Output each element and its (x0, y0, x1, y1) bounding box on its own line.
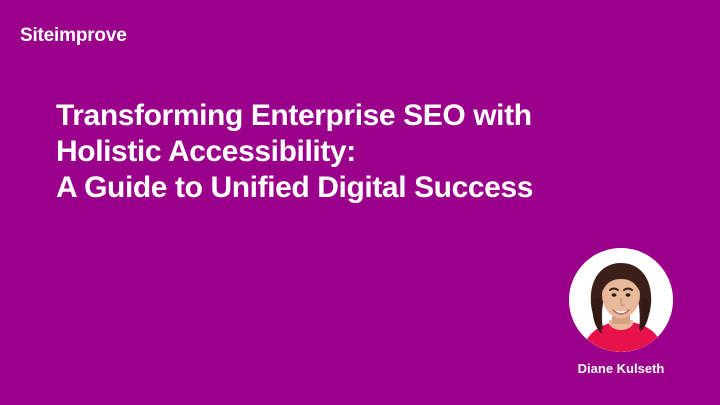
avatar (569, 248, 673, 352)
speaker-block: Diane Kulseth (520, 248, 690, 375)
title-line-3: A Guide to Unified Digital Success (56, 170, 656, 206)
title-line-1: Transforming Enterprise SEO with (56, 98, 656, 134)
speaker-portrait-photo-icon (569, 248, 673, 352)
siteimprove-logo: Siteimprove (20, 26, 127, 45)
title-line-2: Holistic Accessibility: (56, 134, 656, 170)
speaker-name: Diane Kulseth (578, 362, 665, 375)
slide-title: Transforming Enterprise SEO with Holisti… (56, 98, 656, 206)
presentation-slide: Siteimprove Transforming Enterprise SEO … (0, 0, 720, 405)
